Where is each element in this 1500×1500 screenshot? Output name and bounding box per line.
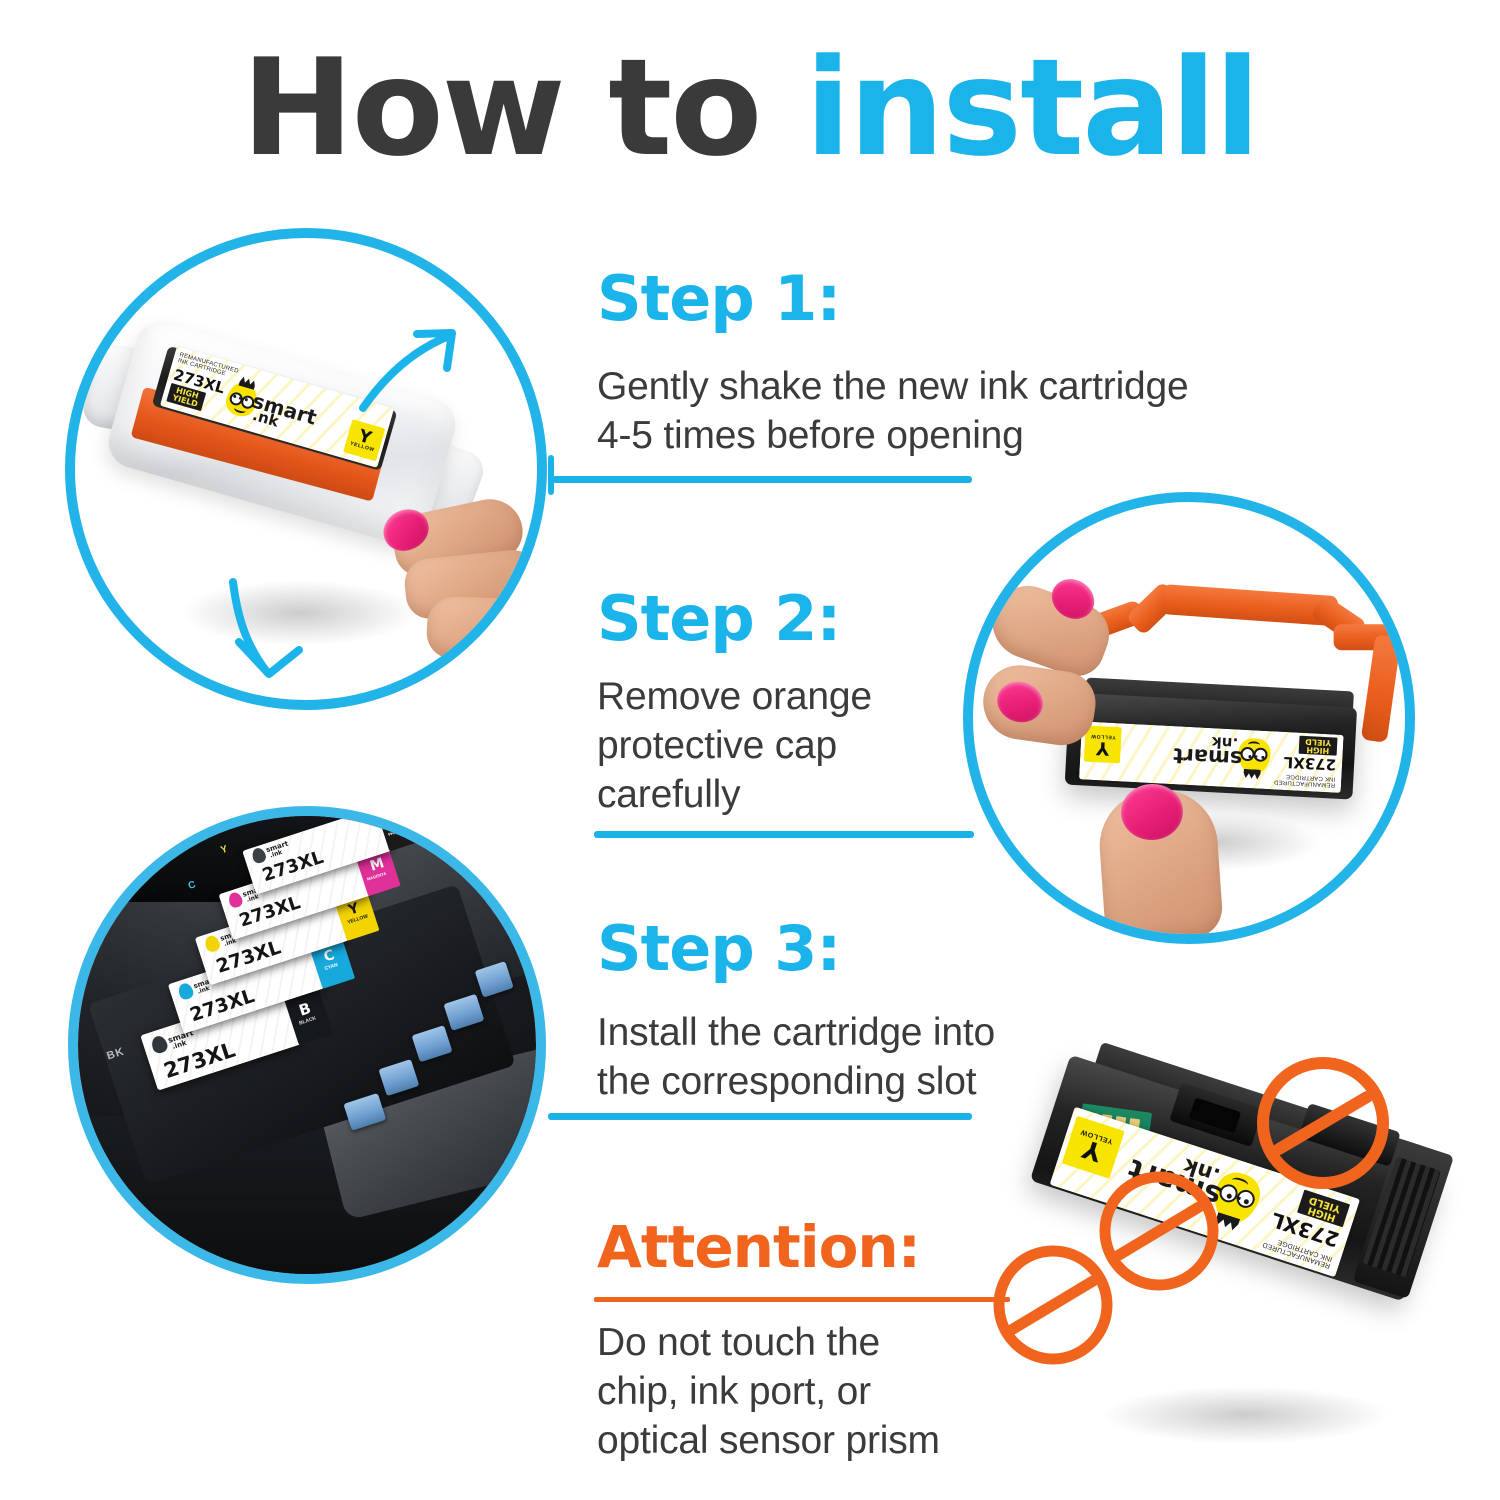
no-touch-ink-port-icon xyxy=(1095,1167,1223,1295)
page-title: How to install xyxy=(0,38,1500,179)
brand-suffix: .ink xyxy=(171,1040,187,1051)
step-2-body: Remove orange protective cap carefully xyxy=(597,672,1017,819)
step-1-photo: REMANUFACTURED INK CARTRIDGE 273XL HIGH … xyxy=(65,228,547,710)
brand-suffix: .nk xyxy=(251,408,280,429)
attention-photo: REMANUFACTURED INK CARTRIDGE 273XL HIGH … xyxy=(985,1045,1485,1475)
step-2-photo: REMANUFACTURED INK CARTRIDGE 273XL HIGH … xyxy=(963,492,1415,944)
step-2-divider xyxy=(594,831,974,838)
attention-heading: Attention: xyxy=(597,1218,920,1276)
page-title-dark: How to xyxy=(242,30,805,186)
cartridge-color-name: MAGENTA xyxy=(367,872,387,882)
label-model: 273XL xyxy=(1283,753,1336,774)
color-name: YELLOW xyxy=(349,442,374,454)
smartink-logo: smart .nk xyxy=(1149,727,1271,779)
label-remanufactured-text: REMANUFACTURED INK CARTRIDGE xyxy=(1273,772,1336,788)
attention-divider xyxy=(594,1297,1010,1302)
step-1-body: Gently shake the new ink cartridge 4-5 t… xyxy=(597,362,1297,460)
finger-ring xyxy=(426,596,547,662)
ink-drop-character-icon xyxy=(1237,738,1271,776)
label-high-yield-badge: HIGH YIELD xyxy=(1299,736,1338,756)
label-color-tab: Y YELLOW xyxy=(343,419,385,461)
brand-suffix: .ink xyxy=(197,986,211,995)
step-1-divider xyxy=(548,476,972,483)
step-1-heading: Step 1: xyxy=(597,268,840,330)
step-2-heading: Step 2: xyxy=(597,588,840,650)
no-touch-optical-sensor-prism-icon xyxy=(1253,1053,1393,1193)
attention-body: Do not touch the chip, ink port, or opti… xyxy=(597,1318,1037,1465)
brand-suffix: .nk xyxy=(1211,735,1238,751)
color-letter: Y xyxy=(1096,738,1110,755)
arrow-up-icon xyxy=(355,326,465,416)
page-title-accent: install xyxy=(805,30,1258,186)
brand-suffix: .ink xyxy=(269,850,283,859)
brand-suffix: .ink xyxy=(223,938,237,947)
color-name: YELLOW xyxy=(1091,733,1116,739)
cartridge-color-name: CYAN xyxy=(324,963,339,972)
step-3-heading: Step 3: xyxy=(597,918,840,980)
arrow-down-icon xyxy=(215,574,315,684)
step-3-divider xyxy=(548,1113,972,1120)
step-1-rule-stub xyxy=(548,455,554,495)
brand-suffix: .ink xyxy=(246,894,260,903)
label-color-tab: Y YELLOW xyxy=(1084,726,1122,764)
ink-cartridge: REMANUFACTURED INK CARTRIDGE 273XL HIGH … xyxy=(1056,676,1362,812)
step-3-photo: BK smart .ink 273XL B BLACK xyxy=(68,806,546,1284)
infographic-canvas: How to install REMANUFACTURED INK CARTRI… xyxy=(0,0,1500,1500)
